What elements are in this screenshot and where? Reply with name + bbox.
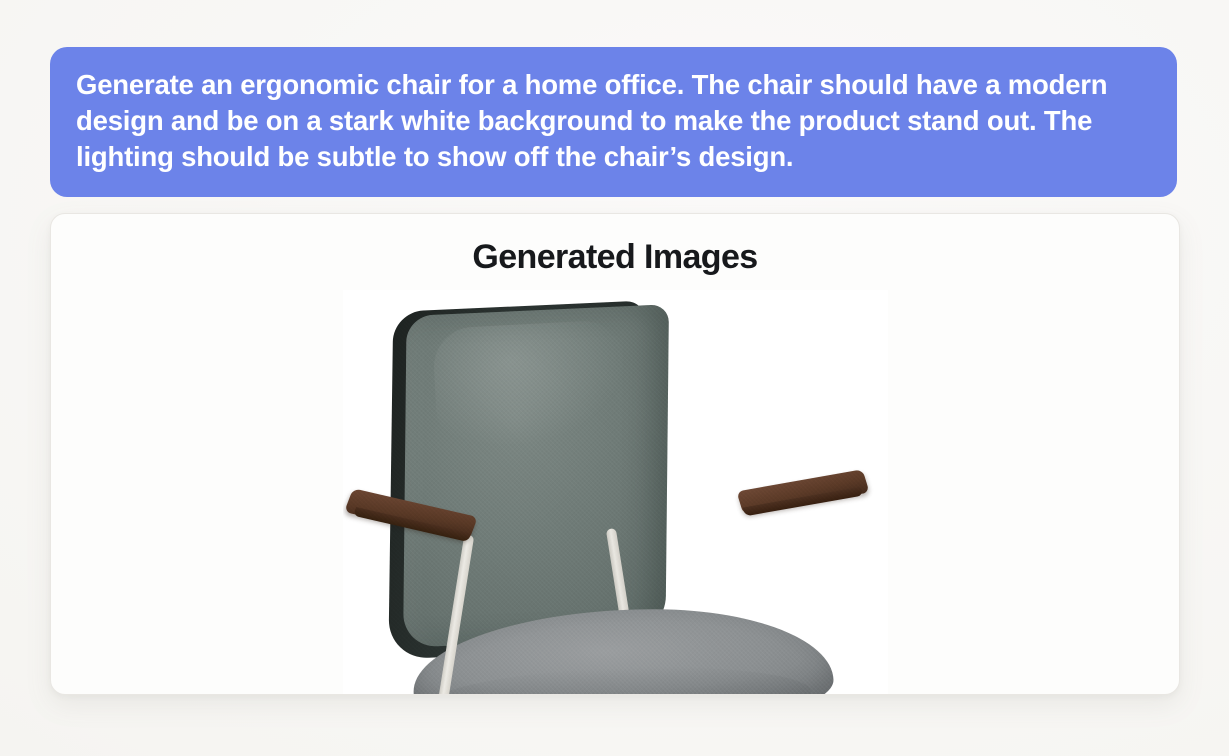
chair-illustration: [343, 290, 888, 695]
app-background: Generate an ergonomic chair for a home o…: [0, 0, 1229, 756]
generated-images-grid: [51, 290, 1179, 694]
chair-backrest-highlight: [431, 319, 627, 449]
generated-image-tile[interactable]: [343, 290, 888, 695]
generated-chair-image[interactable]: [343, 290, 888, 695]
prompt-text: Generate an ergonomic chair for a home o…: [76, 67, 1149, 175]
generated-images-title: Generated Images: [51, 238, 1179, 277]
generated-images-card: Generated Images: [50, 213, 1180, 695]
prompt-bubble: Generate an ergonomic chair for a home o…: [50, 47, 1177, 197]
